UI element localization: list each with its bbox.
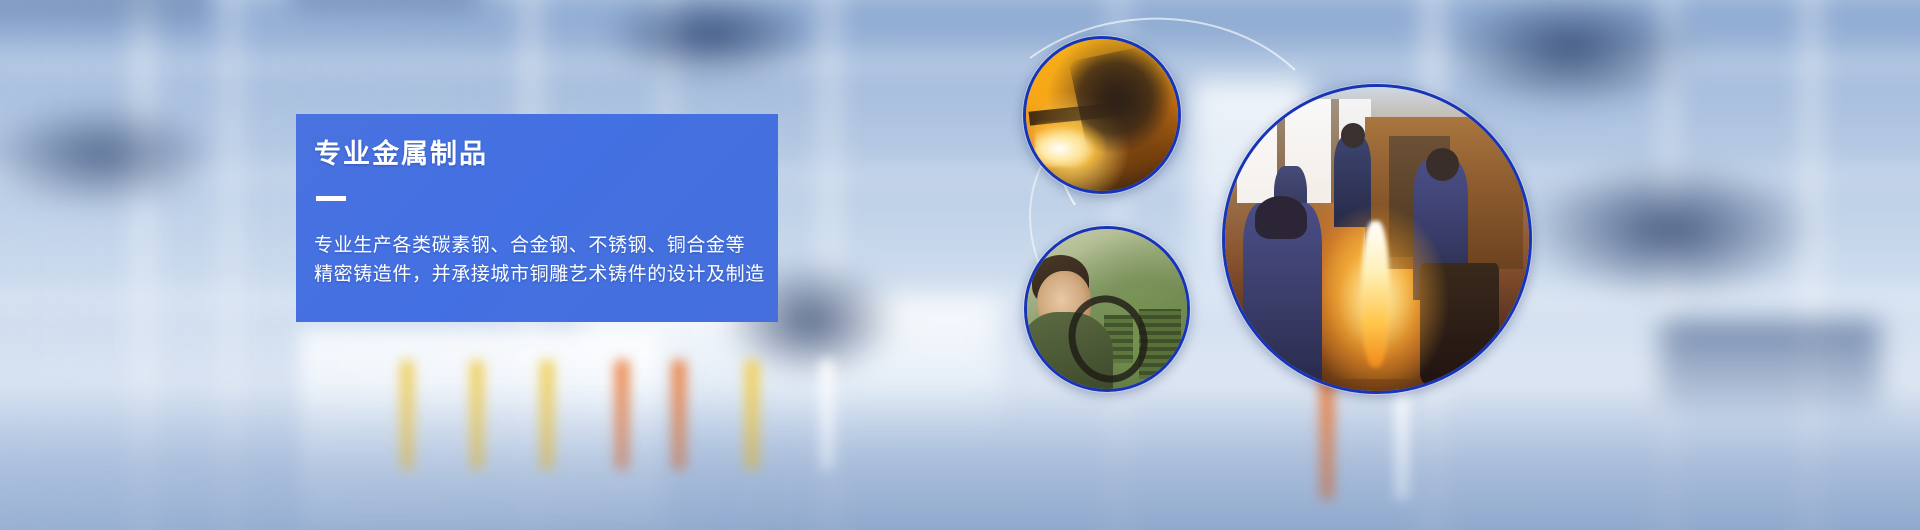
hero-text-panel: 专业金属制品 专业生产各类碳素钢、合金钢、不锈钢、铜合金等 精密铸造件，并承接城… (296, 114, 778, 322)
foundry-pouring-image (1225, 87, 1529, 391)
foundry-pouring-photo (1222, 84, 1532, 394)
background-photo (0, 0, 1920, 530)
hero-banner: 专业金属制品 专业生产各类碳素钢、合金钢、不锈钢、铜合金等 精密铸造件，并承接城… (0, 0, 1920, 530)
precision-inspection-photo (1024, 226, 1190, 392)
welding-sparks-photo (1023, 36, 1181, 194)
hero-description: 专业生产各类碳素钢、合金钢、不锈钢、铜合金等 精密铸造件，并承接城市铜雕艺术铸件… (314, 231, 778, 290)
hero-description-line-1: 专业生产各类碳素钢、合金钢、不锈钢、铜合金等 (314, 231, 778, 260)
background-floor (0, 380, 1920, 530)
precision-inspection-image (1027, 229, 1187, 389)
welding-sparks-image (1026, 39, 1178, 191)
title-underline-rule (316, 196, 346, 201)
page-title: 专业金属制品 (314, 140, 778, 170)
hero-description-line-2: 精密铸造件，并承接城市铜雕艺术铸件的设计及制造 (314, 260, 778, 289)
